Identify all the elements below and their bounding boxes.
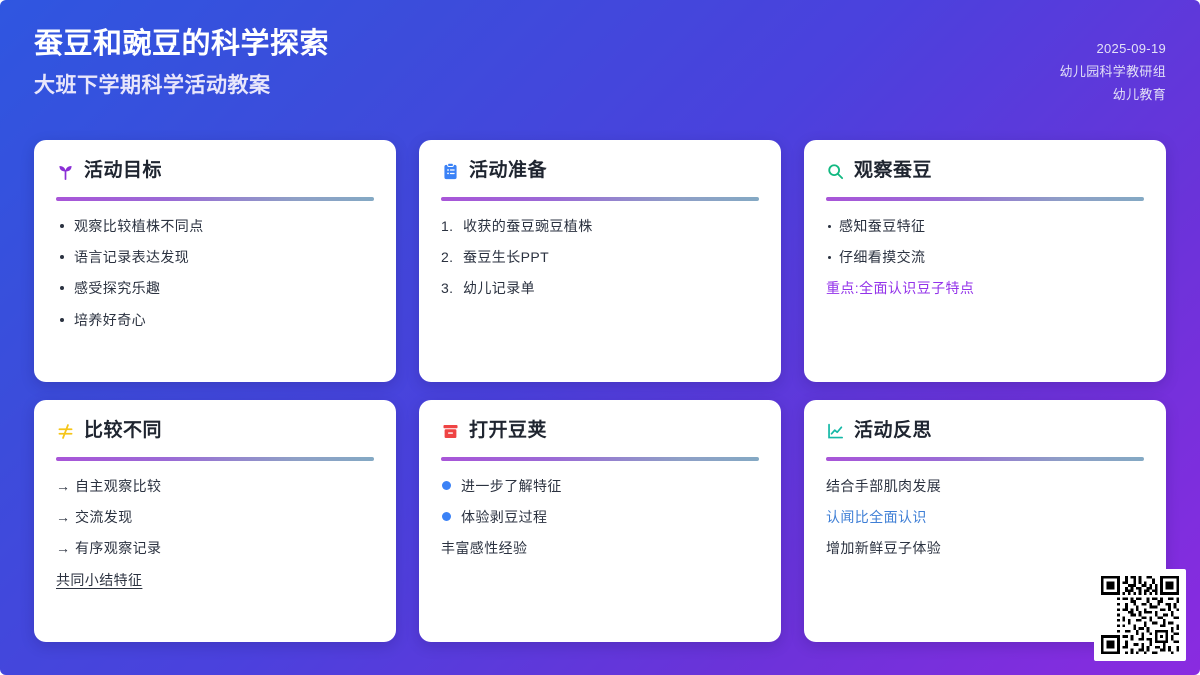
page-title: 蚕豆和豌豆的科学探索 [34,26,329,64]
list-item: 培养好奇心 [56,310,374,330]
list-item-text: 仔细看摸交流 [839,247,1144,267]
arrow-icon: → [56,538,75,558]
qr-code-image [1101,576,1179,654]
card-divider [441,197,759,201]
card-body: 结合手部肌肉发展 认闻比全面认识 增加新鲜豆子体验 [826,476,1144,570]
card-header: 打开豆荚 [441,420,759,443]
bullet-icon [826,247,839,259]
bullet-icon [441,507,461,521]
list-item-text: 观察比较植株不同点 [74,216,374,236]
list-item: →有序观察记录 [56,538,374,558]
list-item: 感知蚕豆特征 [826,216,1144,236]
card-observe-broadbean[interactable]: 观察蚕豆 感知蚕豆特征 仔细看摸交流 重点:全面认识豆子特点 [804,140,1166,382]
meta-date: 2025-09-19 [1097,38,1167,61]
card-title: 活动准备 [469,160,547,183]
card-title: 观察蚕豆 [854,160,932,183]
card-open-pod[interactable]: 打开豆荚 进一步了解特征 体验剥豆过程 丰富感性经验 [419,400,781,642]
list-item-text: 增加新鲜豆子体验 [826,538,1144,558]
page-subtitle: 大班下学期科学活动教案 [34,72,329,99]
poster-header: 蚕豆和豌豆的科学探索 大班下学期科学活动教案 2025-09-19 幼儿园科学教… [0,0,1200,128]
card-divider [56,457,374,461]
card-body: 感知蚕豆特征 仔细看摸交流 重点:全面认识豆子特点 [826,216,1144,310]
list-number: 2. [441,247,463,267]
not-equal-icon [56,422,75,441]
list-item: 重点:全面认识豆子特点 [826,278,1144,298]
meta-org: 幼儿园科学教研组 [1060,61,1166,84]
highlight-text: 重点:全面认识豆子特点 [826,278,1144,298]
meta-category: 幼儿教育 [1113,84,1166,107]
bullet-icon [826,216,839,228]
list-item: →自主观察比较 [56,476,374,496]
list-item-text: 交流发现 [75,507,374,527]
list-item-text: 幼儿记录单 [463,278,759,298]
card-title: 活动目标 [84,160,162,183]
summary-text: 共同小结特征 [56,570,374,590]
card-header: 活动准备 [441,160,759,183]
list-item: 进一步了解特征 [441,476,759,496]
list-item-text: 有序观察记录 [75,538,374,558]
list-item-text: 自主观察比较 [75,476,374,496]
bullet-icon [56,310,74,322]
card-activity-preparation[interactable]: 活动准备 1.收获的蚕豆豌豆植株 2.蚕豆生长PPT 3.幼儿记录单 [419,140,781,382]
bullet-icon [56,216,74,228]
card-activity-goals[interactable]: 活动目标 观察比较植株不同点 语言记录表达发现 感受探究乐趣 培养好奇心 [34,140,396,382]
search-icon [826,162,845,181]
card-compare-differences[interactable]: 比较不同 →自主观察比较 →交流发现 →有序观察记录 共同小结特征 [34,400,396,642]
list-item-text: 培养好奇心 [74,310,374,330]
card-body: 1.收获的蚕豆豌豆植株 2.蚕豆生长PPT 3.幼儿记录单 [441,216,759,310]
card-grid: 活动目标 观察比较植株不同点 语言记录表达发现 感受探究乐趣 培养好奇心 活动准… [34,140,1166,642]
list-item: 感受探究乐趣 [56,278,374,298]
list-number: 1. [441,216,463,236]
list-item-text: 蚕豆生长PPT [463,247,759,267]
archive-box-icon [441,422,460,441]
highlight-text: 认闻比全面认识 [826,507,1144,527]
header-meta: 2025-09-19 幼儿园科学教研组 幼儿教育 [1060,26,1166,106]
list-item: 体验剥豆过程 [441,507,759,527]
card-header: 活动反思 [826,420,1144,443]
list-item-text: 体验剥豆过程 [461,507,759,527]
list-item-text: 进一步了解特征 [461,476,759,496]
list-item: 语言记录表达发现 [56,247,374,267]
card-header: 比较不同 [56,420,374,443]
bullet-icon [56,247,74,259]
line-chart-icon [826,422,845,441]
list-item-text: 语言记录表达发现 [74,247,374,267]
list-item: 3.幼儿记录单 [441,278,759,298]
list-item-text: 结合手部肌肉发展 [826,476,1144,496]
seedling-icon [56,162,75,181]
header-left: 蚕豆和豌豆的科学探索 大班下学期科学活动教案 [34,26,329,99]
poster-root: 蚕豆和豌豆的科学探索 大班下学期科学活动教案 2025-09-19 幼儿园科学教… [0,0,1200,675]
card-divider [56,197,374,201]
card-title: 比较不同 [84,420,162,443]
card-title: 活动反思 [854,420,932,443]
card-title: 打开豆荚 [469,420,547,443]
arrow-icon: → [56,507,75,527]
card-body: 观察比较植株不同点 语言记录表达发现 感受探究乐趣 培养好奇心 [56,216,374,341]
list-item: 增加新鲜豆子体验 [826,538,1144,558]
list-item: 2.蚕豆生长PPT [441,247,759,267]
list-item: 1.收获的蚕豆豌豆植株 [441,216,759,236]
bullet-icon [56,278,74,290]
card-header: 活动目标 [56,160,374,183]
list-item: 仔细看摸交流 [826,247,1144,267]
qr-code[interactable] [1094,569,1186,661]
bullet-icon [441,476,461,490]
list-item: 观察比较植株不同点 [56,216,374,236]
list-item-text: 感受探究乐趣 [74,278,374,298]
list-item-text: 感知蚕豆特征 [839,216,1144,236]
list-item-text: 丰富感性经验 [441,538,759,558]
card-divider [441,457,759,461]
list-number: 3. [441,278,463,298]
list-item: 结合手部肌肉发展 [826,476,1144,496]
card-header: 观察蚕豆 [826,160,1144,183]
list-item: 丰富感性经验 [441,538,759,558]
list-item: →交流发现 [56,507,374,527]
card-body: →自主观察比较 →交流发现 →有序观察记录 共同小结特征 [56,476,374,601]
card-divider [826,197,1144,201]
card-body: 进一步了解特征 体验剥豆过程 丰富感性经验 [441,476,759,570]
arrow-icon: → [56,476,75,496]
list-item: 认闻比全面认识 [826,507,1144,527]
list-item-text: 收获的蚕豆豌豆植株 [463,216,759,236]
list-item: 共同小结特征 [56,570,374,590]
clipboard-icon [441,162,460,181]
card-divider [826,457,1144,461]
